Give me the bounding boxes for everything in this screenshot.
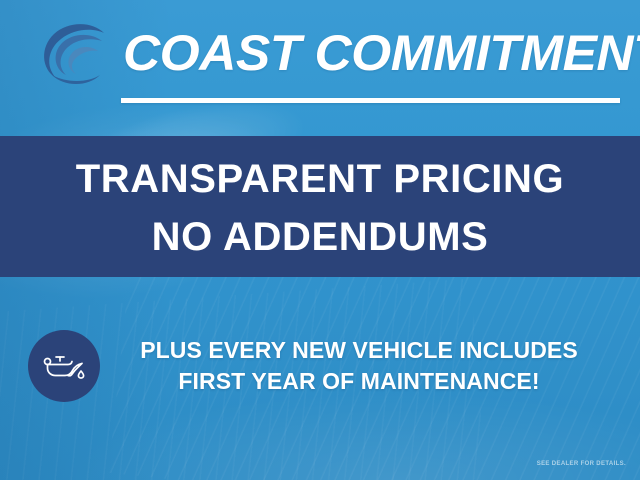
coast-wave-swirl-logo-icon	[32, 17, 110, 91]
page-title: COAST COMMITMENT	[123, 20, 638, 86]
title-divider-rule	[121, 98, 620, 103]
promo-line-first-year-maintenance: FIRST YEAR OF MAINTENANCE!	[178, 366, 539, 397]
maintenance-promo: PLUS EVERY NEW VEHICLE INCLUDES FIRST YE…	[0, 326, 640, 406]
headline-banner: TRANSPARENT PRICING NO ADDENDUMS	[0, 136, 640, 277]
headline-line-no-addendums: NO ADDENDUMS	[152, 208, 489, 266]
headline-line-transparent-pricing: TRANSPARENT PRICING	[76, 150, 564, 208]
disclaimer-text: SEE DEALER FOR DETAILS.	[537, 460, 626, 468]
banner-header: COAST COMMITMENT	[0, 0, 640, 130]
oil-can-icon	[41, 350, 87, 382]
oil-can-icon-badge	[28, 330, 100, 402]
coast-commitment-banner: COAST COMMITMENT TRANSPARENT PRICING NO …	[0, 0, 640, 480]
promo-text-block: PLUS EVERY NEW VEHICLE INCLUDES FIRST YE…	[104, 326, 614, 406]
promo-line-every-new-vehicle: PLUS EVERY NEW VEHICLE INCLUDES	[140, 335, 578, 366]
